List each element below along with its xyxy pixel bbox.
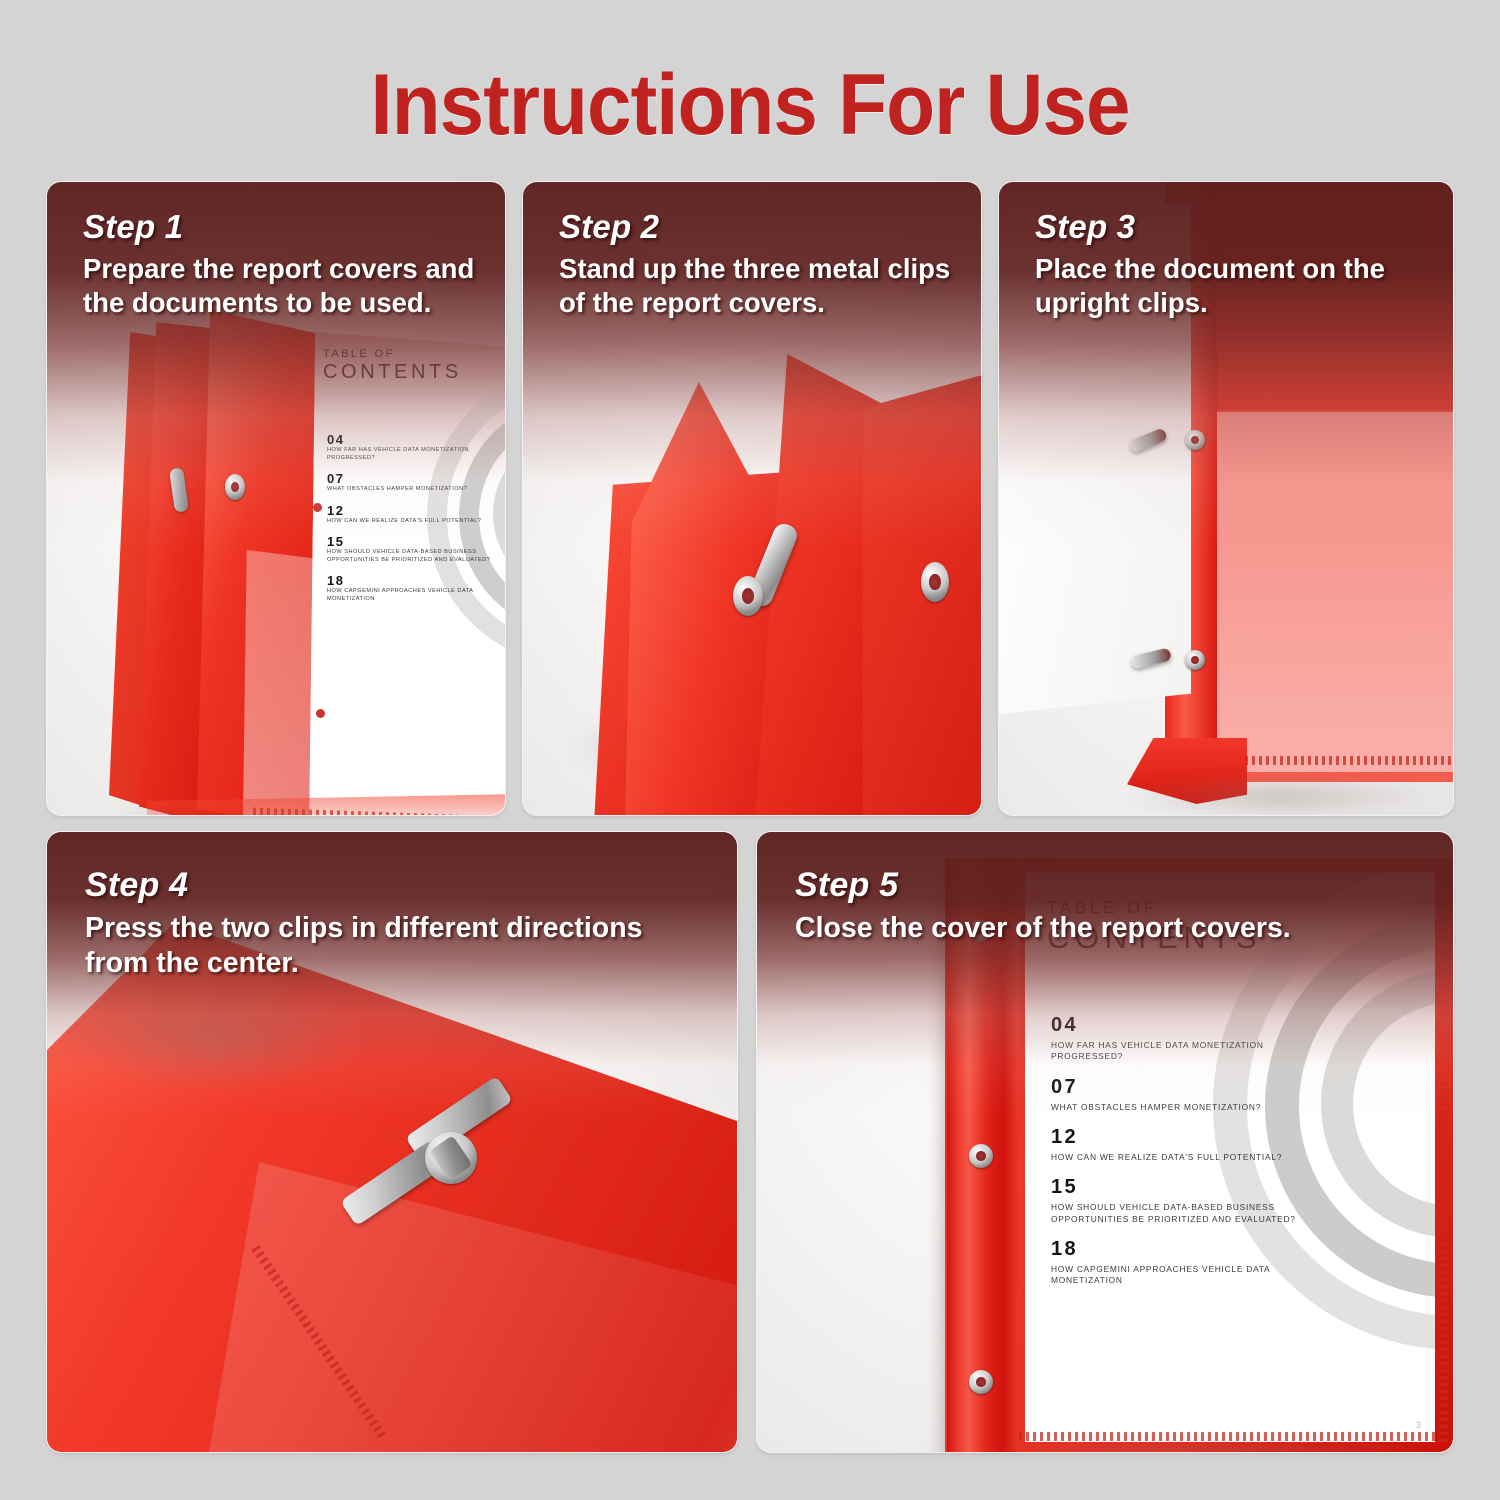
toc-entry-title: HOW CAN WE REALIZE DATA'S FULL POTENTIAL…	[327, 518, 505, 526]
toc-heading-line1: TABLE OF	[323, 348, 462, 360]
toc-entry: 07 WHAT OBSTACLES HAMPER MONETIZATION?	[327, 471, 505, 494]
toc-entry: 07 WHAT OBSTACLES HAMPER MONETIZATION?	[1051, 1076, 1311, 1113]
step-1-text: Prepare the report covers and the docume…	[83, 252, 481, 319]
toc-entry-title: HOW FAR HAS VEHICLE DATA MONETIZATION PR…	[327, 447, 505, 462]
toc-entry-title: HOW SHOULD VEHICLE DATA-BASED BUSINESS O…	[1051, 1202, 1311, 1225]
eyelet-upper	[225, 474, 245, 500]
step-5-caption: Step 5 Close the cover of the report cov…	[795, 866, 1429, 946]
eyelet-middle	[969, 1144, 993, 1168]
toc-entry: 18 HOW CAPGEMINI APPROACHES VEHICLE DATA…	[327, 573, 505, 603]
step-2-label: Step 2	[559, 208, 957, 246]
eyelet-left	[733, 576, 763, 616]
toc-entry: 12 HOW CAN WE REALIZE DATA'S FULL POTENT…	[327, 503, 505, 526]
desk-shadow	[67, 982, 367, 1092]
toc-surface: TABLE OF CONTENTS 04 HOW FAR HAS VEHICLE…	[1025, 872, 1435, 1442]
document-page-number: 3	[1416, 1420, 1421, 1430]
toc-entry-title: WHAT OBSTACLES HAMPER MONETIZATION?	[327, 486, 505, 494]
toc-entry-number: 15	[1051, 1176, 1311, 1199]
toc-entry-title: HOW FAR HAS VEHICLE DATA MONETIZATION PR…	[1051, 1040, 1311, 1063]
toc-entry-title: HOW CAN WE REALIZE DATA'S FULL POTENTIAL…	[1051, 1152, 1311, 1163]
cover-pocket	[1213, 412, 1453, 772]
step-4-caption: Step 4 Press the two clips in different …	[85, 866, 713, 981]
step-1-caption: Step 1 Prepare the report covers and the…	[83, 208, 481, 319]
eyelet-bottom	[969, 1370, 993, 1394]
toc-entry: 12 HOW CAN WE REALIZE DATA'S FULL POTENT…	[1051, 1126, 1311, 1163]
toc-entry-number: 18	[327, 573, 505, 588]
toc-entry-title: HOW SHOULD VEHICLE DATA-BASED BUSINESS O…	[327, 549, 505, 564]
step-panel-5: TABLE OF CONTENTS 04 HOW FAR HAS VEHICLE…	[757, 832, 1453, 1452]
step-5-text: Close the cover of the report covers.	[795, 911, 1429, 946]
toc-entry-number: 12	[327, 503, 505, 518]
toc-entry-title: HOW CAPGEMINI APPROACHES VEHICLE DATA MO…	[1051, 1264, 1311, 1287]
toc-entries: 04 HOW FAR HAS VEHICLE DATA MONETIZATION…	[327, 432, 505, 603]
step-3-text: Place the document on the upright clips.	[1035, 252, 1429, 319]
table-of-contents-document: TABLE OF CONTENTS 04 HOW FAR HAS VEHICLE…	[1025, 872, 1435, 1442]
toc-surface: TABLE OF CONTENTS 04 HOW FAR HAS VEHICLE…	[309, 332, 505, 815]
toc-heading: TABLE OF CONTENTS	[323, 348, 462, 384]
folder-sheet-right	[863, 372, 981, 815]
infographic-page: Instructions For Use	[0, 0, 1500, 1500]
step-panel-1: TABLE OF CONTENTS 04 HOW FAR HAS VEHICLE…	[47, 182, 505, 815]
table-of-contents-document: TABLE OF CONTENTS 04 HOW FAR HAS VEHICLE…	[309, 332, 505, 815]
toc-entry-title: HOW CAPGEMINI APPROACHES VEHICLE DATA MO…	[327, 588, 505, 603]
step-5-label: Step 5	[795, 866, 1429, 905]
cover-perforation-strip	[1439, 1082, 1448, 1442]
toc-entry: 04 HOW FAR HAS VEHICLE DATA MONETIZATION…	[327, 432, 505, 462]
eyelet-right	[921, 562, 949, 602]
desk-shadow	[1119, 774, 1439, 815]
step-1-label: Step 1	[83, 208, 481, 246]
step-panel-2: Step 2 Stand up the three metal clips of…	[523, 182, 981, 815]
toc-entry-number: 15	[327, 534, 505, 549]
step-2-caption: Step 2 Stand up the three metal clips of…	[559, 208, 957, 319]
step-4-text: Press the two clips in different directi…	[85, 911, 713, 981]
toc-entry: 04 HOW FAR HAS VEHICLE DATA MONETIZATION…	[1051, 1014, 1311, 1063]
step-4-label: Step 4	[85, 866, 713, 905]
step-panel-3: Step 3 Place the document on the upright…	[999, 182, 1453, 815]
page-title: Instructions For Use	[53, 56, 1448, 155]
eyelet-lower	[1185, 650, 1205, 670]
toc-entry-number: 04	[1051, 1014, 1311, 1037]
toc-entry: 15 HOW SHOULD VEHICLE DATA-BASED BUSINES…	[1051, 1176, 1311, 1225]
toc-heading-line2: CONTENTS	[323, 361, 462, 384]
toc-entry-number: 12	[1051, 1126, 1311, 1149]
eyelet-upper	[1185, 430, 1205, 450]
toc-entry-title: WHAT OBSTACLES HAMPER MONETIZATION?	[1051, 1102, 1311, 1113]
punch-hole-upper	[313, 503, 322, 512]
toc-entry-number: 18	[1051, 1238, 1311, 1261]
toc-entry-number: 04	[327, 432, 505, 447]
step-panel-4: Step 4 Press the two clips in different …	[47, 832, 737, 1452]
step-2-text: Stand up the three metal clips of the re…	[559, 252, 957, 319]
step-3-caption: Step 3 Place the document on the upright…	[1035, 208, 1429, 319]
punch-hole-lower	[316, 709, 325, 718]
step-3-label: Step 3	[1035, 208, 1429, 246]
toc-entries: 04 HOW FAR HAS VEHICLE DATA MONETIZATION…	[1051, 1014, 1311, 1287]
toc-entry-number: 07	[327, 471, 505, 486]
toc-entry: 18 HOW CAPGEMINI APPROACHES VEHICLE DATA…	[1051, 1238, 1311, 1287]
cover-perforation-strip	[1245, 756, 1453, 765]
toc-entry-number: 07	[1051, 1076, 1311, 1099]
toc-entry: 15 HOW SHOULD VEHICLE DATA-BASED BUSINES…	[327, 534, 505, 564]
